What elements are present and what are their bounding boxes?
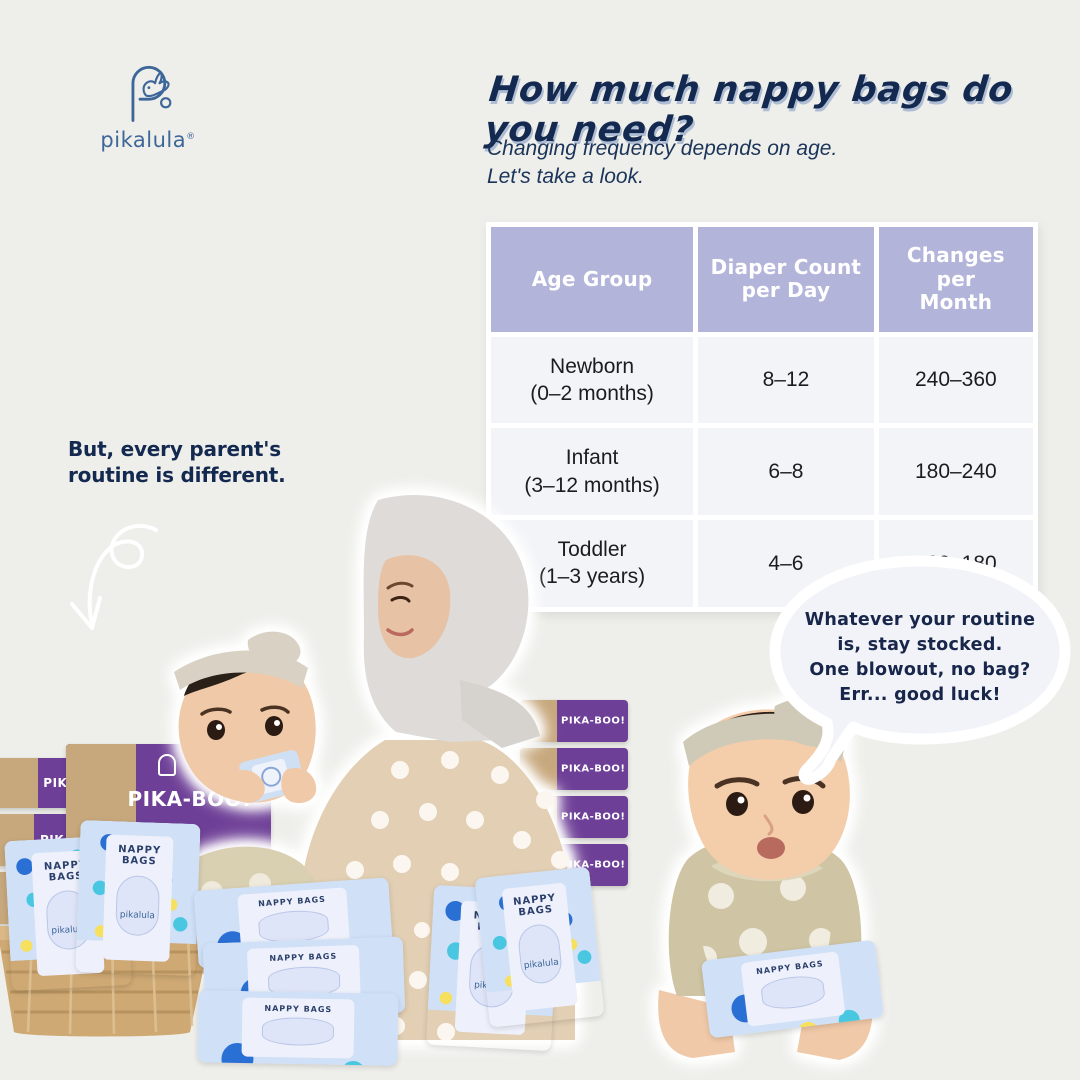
bubble-line-4: Err... good luck! xyxy=(791,683,1049,708)
cell-age-group: Newborn (0–2 months) xyxy=(491,337,693,424)
page-subheadline: Changing frequency depends on age. Let's… xyxy=(487,135,1057,190)
pack-logo-oval xyxy=(760,974,826,1012)
brand-logo: pikalula® xyxy=(88,62,208,152)
column-header-diaper-count: Diaper Count per Day xyxy=(698,227,874,332)
column-header-age-group: Age Group xyxy=(491,227,693,332)
pack-logo-oval xyxy=(115,875,160,936)
brand-wordmark: pikalula® xyxy=(100,128,195,152)
subheadline-line-1: Changing frequency depends on age. xyxy=(487,135,1057,163)
nappy-bag-pack: NAPPY BAGS pikalula xyxy=(474,866,604,1027)
cell-diaper-count: 8–12 xyxy=(698,337,874,424)
pack-logo-oval xyxy=(262,1017,334,1047)
cell-changes-per-month: 240–360 xyxy=(879,337,1033,424)
cell-changes-per-month: 180–240 xyxy=(879,428,1033,515)
infographic-canvas: pikalula® How much nappy bags do you nee… xyxy=(0,0,1080,1080)
table-row: Newborn (0–2 months) 8–12 240–360 xyxy=(491,337,1033,424)
pack-label: NAPPY BAGS pikalula xyxy=(102,835,173,962)
pack-logo-oval xyxy=(517,923,564,986)
bubble-line-1: Whatever your routine xyxy=(791,608,1049,633)
pack-label: NAPPY BAGS xyxy=(241,998,354,1059)
table-header-row: Age Group Diaper Count per Day Changes p… xyxy=(491,227,1033,332)
pack-label: NAPPY BAGS xyxy=(740,951,845,1026)
speech-bubble-text: Whatever your routine is, stay stocked. … xyxy=(791,608,1049,707)
nappy-bag-pack: NAPPY BAGS pikalula xyxy=(75,820,200,976)
column-header-changes-per-month: Changes per Month xyxy=(879,227,1033,332)
bubble-line-3: One blowout, no bag? xyxy=(791,658,1049,683)
bunny-in-p-monogram-icon xyxy=(117,62,179,124)
speech-bubble: Whatever your routine is, stay stocked. … xyxy=(765,553,1075,803)
nappy-bag-pack: NAPPY BAGS xyxy=(197,990,398,1065)
pack-label: NAPPY BAGS pikalula xyxy=(501,882,578,1011)
subheadline-line-2: Let's take a look. xyxy=(487,163,1057,191)
registered-mark: ® xyxy=(186,132,196,142)
bubble-line-2: is, stay stocked. xyxy=(791,633,1049,658)
cell-diaper-count: 6–8 xyxy=(698,428,874,515)
brand-name-text: pikalula xyxy=(100,128,186,152)
